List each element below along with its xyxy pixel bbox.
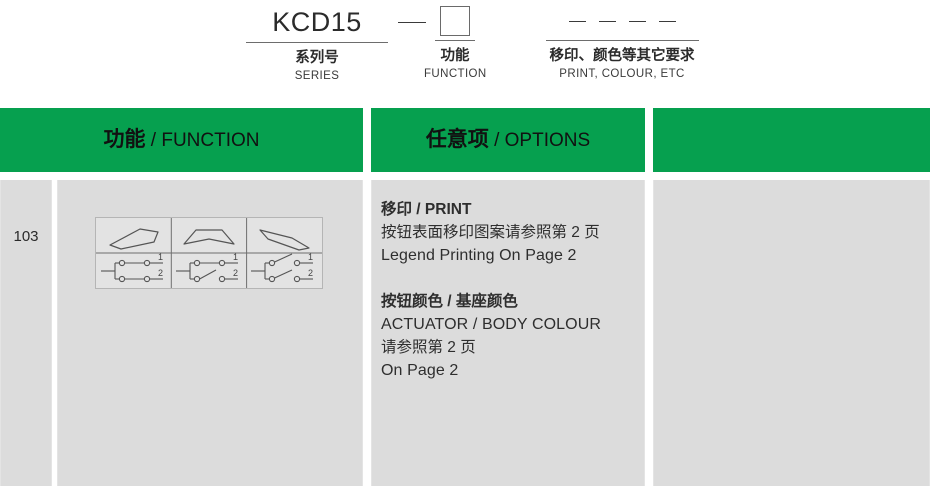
table-row-options-cell: 移印 / PRINT 按钮表面移印图案请参照第 2 页 Legend Print… xyxy=(371,180,645,486)
switch-diagram: 1 2 xyxy=(95,217,323,289)
legend-series-block: KCD15 系列号 SERIES xyxy=(246,6,388,83)
function-code-box[interactable] xyxy=(440,6,470,36)
row-code-label: 103 xyxy=(0,228,52,245)
header-options-cn: 任意项 xyxy=(426,128,489,151)
contact-state-3 xyxy=(251,254,313,282)
dash-icon xyxy=(398,22,426,23)
column-header-options-text: 任意项 / OPTIONS xyxy=(426,128,590,153)
series-underline xyxy=(246,42,388,43)
header-function-sep: / xyxy=(146,130,162,151)
rocker-left-down-icon xyxy=(110,229,158,249)
series-label-cn: 系列号 xyxy=(246,49,388,67)
function-underline xyxy=(435,40,475,41)
dash-icon xyxy=(569,21,586,22)
options-spacer xyxy=(381,267,635,290)
print-label-cn: 移印、颜色等其它要求 xyxy=(524,47,720,65)
contact-state-2 xyxy=(176,260,238,281)
table-row-diagram-cell: 1 2 xyxy=(57,180,363,486)
terminal-label-1: 1 xyxy=(158,252,163,262)
options-print-cn: 按钮表面移印图案请参照第 2 页 xyxy=(381,221,635,244)
print-underline xyxy=(546,40,699,41)
contact-state-1 xyxy=(101,260,163,281)
dash-icon xyxy=(629,21,646,22)
options-print-title: 移印 / PRINT xyxy=(381,198,635,221)
header-options-sep: / xyxy=(489,130,505,151)
terminal-label-2: 2 xyxy=(308,268,313,278)
options-colour-cn: 请参照第 2 页 xyxy=(381,336,635,359)
header-function-cn: 功能 xyxy=(104,128,146,151)
column-header-function: 功能 / FUNCTION xyxy=(0,108,363,172)
series-code: KCD15 xyxy=(246,6,388,40)
legend-print-block: 移印、颜色等其它要求 PRINT, COLOUR, ETC xyxy=(524,4,720,81)
rocker-right-down-icon xyxy=(260,230,309,250)
dash-icon xyxy=(659,21,676,22)
specification-table: 功能 / FUNCTION 任意项 / OPTIONS 103 xyxy=(0,108,952,486)
column-header-blank xyxy=(653,108,930,172)
page-root: KCD15 系列号 SERIES 功能 FUNCTION 移印、颜色等其它要求 … xyxy=(0,0,952,486)
options-colour-en-title: ACTUATOR / BODY COLOUR xyxy=(381,313,635,336)
switch-diagram-svg: 1 2 xyxy=(96,218,322,288)
options-colour-en: On Page 2 xyxy=(381,359,635,382)
table-row-code-cell: 103 xyxy=(0,180,52,486)
terminal-label-1: 1 xyxy=(233,252,238,262)
terminal-label-2: 2 xyxy=(233,268,238,278)
function-label-en: FUNCTION xyxy=(424,67,486,81)
print-label-en: PRINT, COLOUR, ETC xyxy=(524,67,720,81)
column-header-function-text: 功能 / FUNCTION xyxy=(104,128,260,153)
header-options-en: OPTIONS xyxy=(505,130,591,151)
legend-separator-dash xyxy=(398,22,426,23)
options-text-block: 移印 / PRINT 按钮表面移印图案请参照第 2 页 Legend Print… xyxy=(381,198,635,382)
options-colour-title: 按钮颜色 / 基座颜色 xyxy=(381,290,635,313)
part-number-legend: KCD15 系列号 SERIES 功能 FUNCTION 移印、颜色等其它要求 … xyxy=(0,0,952,100)
terminal-label-2: 2 xyxy=(158,268,163,278)
header-function-en: FUNCTION xyxy=(161,130,259,151)
series-label-en: SERIES xyxy=(246,69,388,83)
rocker-centre-icon xyxy=(184,230,234,244)
function-label-cn: 功能 xyxy=(424,47,486,65)
terminal-label-1: 1 xyxy=(308,252,313,262)
table-row-blank-cell xyxy=(653,180,930,486)
legend-function-block: 功能 FUNCTION xyxy=(424,4,486,81)
dash-icon xyxy=(599,21,616,22)
options-print-en: Legend Printing On Page 2 xyxy=(381,244,635,267)
column-header-options: 任意项 / OPTIONS xyxy=(371,108,645,172)
print-code-dashes xyxy=(524,6,720,36)
